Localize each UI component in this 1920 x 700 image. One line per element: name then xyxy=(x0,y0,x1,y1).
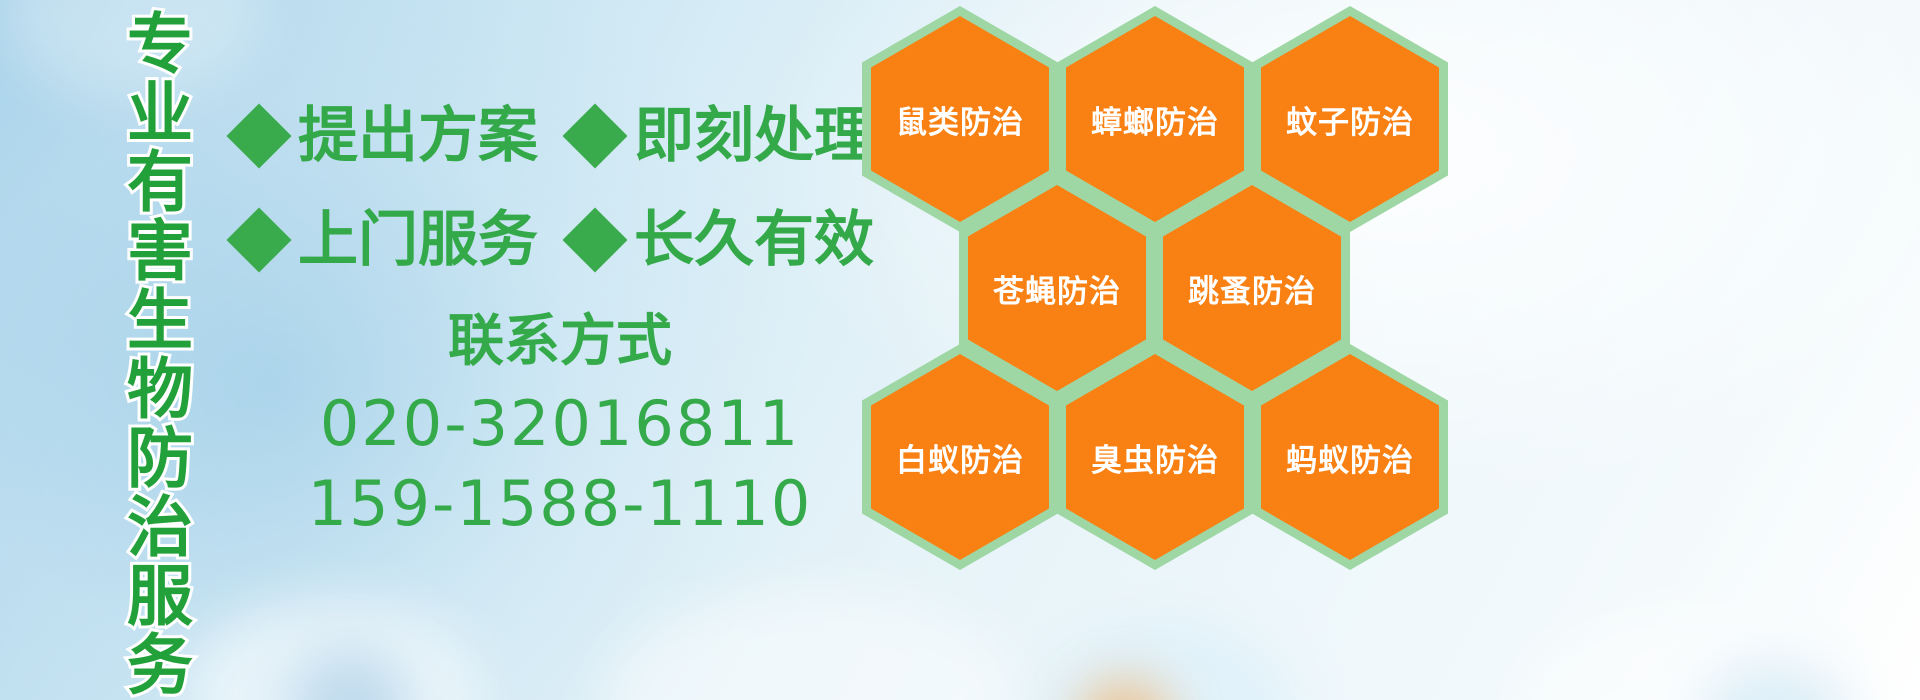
vertical-headline-char: 务 xyxy=(127,631,193,700)
feature-item-immediate-handling: 即刻处理 xyxy=(572,105,874,167)
contact-phone-landline[interactable]: 020-32016811 xyxy=(300,384,820,464)
feature-row: 上门服务 长久有效 xyxy=(236,188,876,292)
hex-label: 白蚁防治 xyxy=(896,435,1024,480)
contact-phone-mobile[interactable]: 159-1588-1110 xyxy=(300,464,820,544)
hex-label: 跳蚤防治 xyxy=(1188,266,1316,311)
feature-label: 上门服务 xyxy=(298,209,538,271)
feature-list: 提出方案 即刻处理 上门服务 长久有效 xyxy=(236,84,876,292)
background-blob xyxy=(1520,610,1880,700)
hex-label: 鼠类防治 xyxy=(896,97,1024,142)
feature-item-propose-plan: 提出方案 xyxy=(236,105,538,167)
feature-label: 即刻处理 xyxy=(634,105,874,167)
diamond-bullet-icon xyxy=(562,207,627,272)
vertical-headline-char: 物 xyxy=(127,355,193,424)
background-blob xyxy=(290,650,410,700)
vertical-headline-char: 治 xyxy=(127,493,193,562)
background-blob xyxy=(1040,620,1300,700)
vertical-headline-char: 业 xyxy=(127,79,193,148)
vertical-headline-char: 专 xyxy=(127,10,193,79)
vertical-headline-char: 生 xyxy=(127,286,193,355)
feature-label: 长久有效 xyxy=(634,209,874,271)
hex-label: 蟑螂防治 xyxy=(1091,97,1219,142)
diamond-bullet-icon xyxy=(226,207,291,272)
vertical-headline-char: 服 xyxy=(127,562,193,631)
diamond-bullet-icon xyxy=(226,103,291,168)
feature-row: 提出方案 即刻处理 xyxy=(236,84,876,188)
diamond-bullet-icon xyxy=(562,103,627,168)
background-blob xyxy=(180,600,480,700)
background-blob xyxy=(1700,660,1850,700)
hex-label: 蚊子防治 xyxy=(1286,97,1414,142)
hex-label: 臭虫防治 xyxy=(1091,435,1219,480)
hex-label: 苍蝇防治 xyxy=(993,266,1121,311)
service-hex-grid: 鼠类防治 蟑螂防治 蚊子防治 苍蝇防治 跳蚤防治 白蚁防治 臭虫防治 蚂蚁 xyxy=(856,0,1476,560)
vertical-headline-char: 害 xyxy=(127,217,193,286)
background-blob xyxy=(600,590,1020,700)
contact-title: 联系方式 xyxy=(300,310,820,374)
promo-banner: 专 业 有 害 生 物 防 治 服 务 提出方案 即刻处理 上门服务 xyxy=(0,0,1920,700)
feature-item-long-lasting: 长久有效 xyxy=(572,209,874,271)
vertical-headline: 专 业 有 害 生 物 防 治 服 务 xyxy=(108,10,212,690)
feature-item-onsite-service: 上门服务 xyxy=(236,209,538,271)
hex-label: 蚂蚁防治 xyxy=(1286,435,1414,480)
vertical-headline-char: 防 xyxy=(127,424,193,493)
background-blob xyxy=(1080,682,1170,700)
vertical-headline-char: 有 xyxy=(127,148,193,217)
feature-label: 提出方案 xyxy=(298,105,538,167)
contact-block: 联系方式 020-32016811 159-1588-1110 xyxy=(300,310,820,544)
